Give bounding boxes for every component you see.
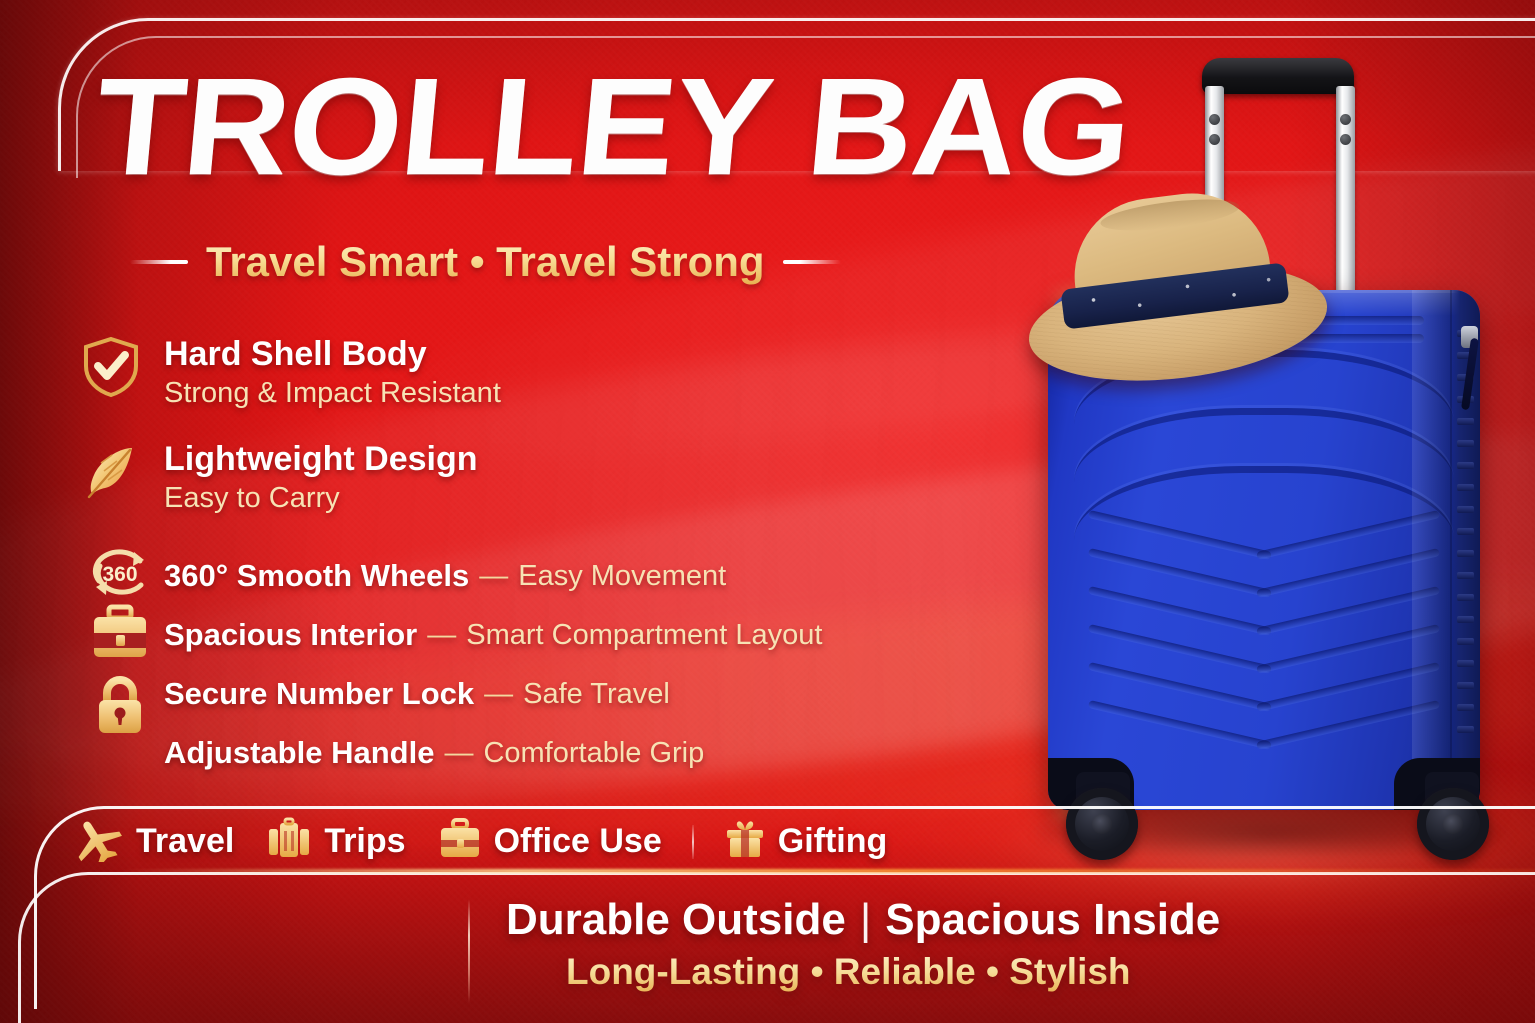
feature-item-wheels: 360° Smooth Wheels — Easy Movement [80, 547, 920, 606]
footer-left-text: Durable Outside [506, 895, 846, 944]
feature-item-lock: Secure Number Lock — Safe Travel [80, 665, 920, 724]
straw-fedora-hat [1028, 192, 1328, 382]
feature-item-lightweight: Lightweight Design Easy to Carry [80, 441, 920, 516]
tagline-dash-right [783, 260, 841, 264]
shell-v-groove [1084, 742, 1444, 744]
footer-subtitle: Long-Lasting • Reliable • Stylish [470, 951, 1470, 993]
briefcase-icon [84, 601, 156, 663]
feature-subtitle: Easy Movement [518, 560, 726, 593]
tagline-text: Travel Smart • Travel Strong [206, 238, 765, 286]
shell-v-groove [1084, 552, 1444, 554]
feature-title: 360° Smooth Wheels [164, 558, 469, 594]
feature-item-interior: Spacious Interior — Smart Compartment La… [80, 606, 920, 665]
feature-dash: — [469, 560, 518, 593]
usage-item-gifting: Gifting [708, 818, 904, 865]
tagline-dash-left [130, 260, 188, 264]
feature-dash: — [417, 619, 466, 652]
shield-check-icon [80, 336, 142, 398]
zipper-track [1450, 290, 1480, 810]
handle-post-right [1336, 86, 1355, 316]
rotate-360-label: 360 [102, 563, 137, 586]
handle-rivet [1340, 134, 1351, 145]
shell-v-groove [1084, 590, 1444, 592]
footer-block: Durable Outside|Spacious Inside Long-Las… [470, 895, 1470, 993]
page-title: TROLLEY BAG [90, 62, 1099, 193]
telescopic-handle-grip [1202, 58, 1354, 94]
usage-label: Gifting [778, 822, 888, 861]
shell-v-groove [1084, 666, 1444, 668]
usage-label: Trips [324, 822, 405, 861]
padlock-icon [84, 675, 156, 737]
handle-rivet [1209, 134, 1220, 145]
briefcase-icon [438, 818, 482, 865]
feature-item-handle: Adjustable Handle — Comfortable Grip [80, 724, 920, 783]
feature-text-hard-shell: Hard Shell Body Strong & Impact Resistan… [164, 336, 501, 411]
feature-list: Hard Shell Body Strong & Impact Resistan… [80, 336, 920, 783]
feature-subtitle: Smart Compartment Layout [466, 619, 822, 652]
shell-side-edge [1412, 290, 1452, 810]
feature-title: Lightweight Design [164, 441, 478, 477]
feature-item-hard-shell: Hard Shell Body Strong & Impact Resistan… [80, 336, 920, 411]
usage-divider [692, 825, 694, 859]
feature-rows: 360 [80, 547, 920, 783]
usage-item-trips: Trips [250, 817, 421, 866]
feature-subtitle: Easy to Carry [164, 480, 478, 516]
spinner-wheel-right [1417, 788, 1489, 860]
feature-dash: — [474, 678, 523, 711]
feature-title: Hard Shell Body [164, 336, 501, 372]
feature-subtitle: Safe Travel [523, 678, 670, 711]
footer-right-text: Spacious Inside [885, 895, 1220, 944]
rotate-360-icon: 360 [84, 543, 156, 605]
footer-pipe: | [846, 895, 885, 944]
headline-block: TROLLEY BAG [96, 62, 1036, 193]
feature-text-lightweight: Lightweight Design Easy to Carry [164, 441, 478, 516]
feature-dash: — [434, 737, 483, 770]
usage-strip: Travel Trips [72, 816, 903, 867]
luggage-icon [266, 817, 312, 866]
usage-label: Office Use [494, 822, 662, 861]
feature-title: Secure Number Lock [164, 676, 474, 712]
shell-v-groove [1084, 628, 1444, 630]
feature-subtitle: Comfortable Grip [483, 737, 704, 770]
feather-icon [80, 441, 142, 503]
airplane-icon [72, 816, 124, 867]
feature-subtitle: Strong & Impact Resistant [164, 375, 501, 411]
product-image-trolley-bag [1020, 40, 1535, 870]
shell-v-groove [1084, 704, 1444, 706]
usage-label: Travel [136, 822, 234, 861]
handle-rivet [1209, 114, 1220, 125]
gift-icon [724, 818, 766, 865]
feature-title: Adjustable Handle [164, 735, 434, 771]
usage-item-office: Office Use [422, 818, 678, 865]
promo-banner: TROLLEY BAG Travel Smart • Travel Strong… [0, 0, 1535, 1023]
handle-rivet [1340, 114, 1351, 125]
feature-title: Spacious Interior [164, 617, 417, 653]
spinner-wheel-left [1066, 788, 1138, 860]
tagline-row: Travel Smart • Travel Strong [130, 238, 920, 286]
usage-item-travel: Travel [72, 816, 250, 867]
footer-headline: Durable Outside|Spacious Inside [470, 895, 1470, 945]
